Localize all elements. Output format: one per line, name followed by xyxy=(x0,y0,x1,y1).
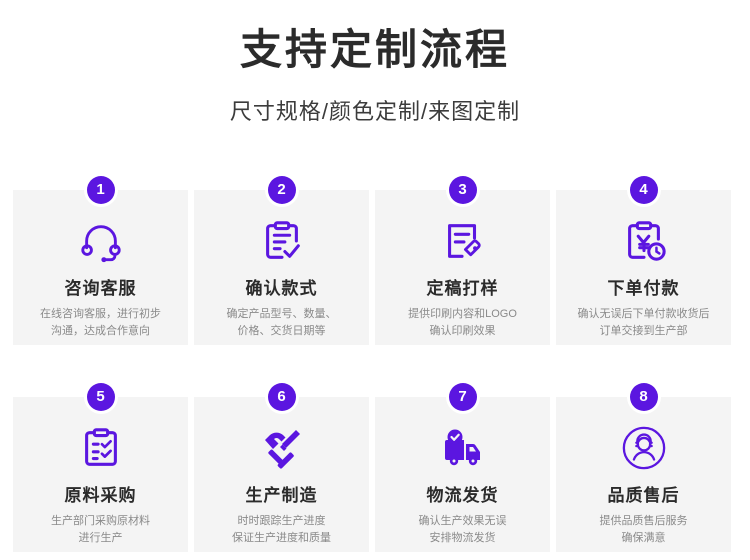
step-title-8: 品质售后 xyxy=(556,481,731,506)
step-desc-3: 提供印刷内容和LOGO 确认印刷效果 xyxy=(375,306,550,340)
step-desc-line-2: 确认印刷效果 xyxy=(385,323,540,340)
step-desc-line-1: 提供品质售后服务 xyxy=(566,513,721,530)
step-badge-3: 3 xyxy=(449,176,477,204)
step-desc-line-1: 确定产品型号、数量、 xyxy=(204,306,359,323)
step-card-7[interactable]: 7 物流发货 确认生产效果无误 安排物流发货 xyxy=(375,397,550,552)
step-card-3[interactable]: 3 定稿打样 提供印刷内容和LOGO 确认印刷效果 xyxy=(375,190,550,345)
step-badge-1: 1 xyxy=(87,176,115,204)
step-desc-line-1: 在线咨询客服，进行初步 xyxy=(23,306,178,323)
step-desc-2: 确定产品型号、数量、 价格、交货日期等 xyxy=(194,306,369,340)
document-tag-icon xyxy=(375,216,550,266)
step-desc-line-2: 安排物流发货 xyxy=(385,530,540,547)
step-title-7: 物流发货 xyxy=(375,481,550,506)
step-desc-line-1: 提供印刷内容和LOGO xyxy=(385,306,540,323)
delivery-truck-check-icon xyxy=(375,423,550,473)
step-desc-line-1: 确认无误后下单付款收货后 xyxy=(566,306,721,323)
step-card-5[interactable]: 5 原料采购 生产部门采购原材料 进行生产 xyxy=(13,397,188,552)
step-title-2: 确认款式 xyxy=(194,274,369,299)
step-desc-line-2: 进行生产 xyxy=(23,530,178,547)
step-desc-4: 确认无误后下单付款收货后 订单交接到生产部 xyxy=(556,306,731,340)
step-desc-5: 生产部门采购原材料 进行生产 xyxy=(13,513,188,547)
step-badge-4: 4 xyxy=(630,176,658,204)
clipboard-yuan-clock-icon xyxy=(556,216,731,266)
step-title-5: 原料采购 xyxy=(13,481,188,506)
page-subtitle: 尺寸规格/颜色定制/来图定制 xyxy=(0,94,750,126)
step-desc-line-2: 保证生产进度和质量 xyxy=(204,530,359,547)
step-desc-7: 确认生产效果无误 安排物流发货 xyxy=(375,513,550,547)
step-desc-line-2: 确保满意 xyxy=(566,530,721,547)
step-badge-2: 2 xyxy=(268,176,296,204)
clipboard-checklist-icon xyxy=(13,423,188,473)
page-title: 支持定制流程 xyxy=(0,26,750,74)
step-badge-5: 5 xyxy=(87,383,115,411)
custom-process-page: 支持定制流程 尺寸规格/颜色定制/来图定制 1 咨询客服 在线咨询客服，进行初步… xyxy=(0,0,750,560)
step-desc-line-1: 确认生产效果无误 xyxy=(385,513,540,530)
step-desc-line-2: 价格、交货日期等 xyxy=(204,323,359,340)
support-agent-circle-icon xyxy=(556,423,731,473)
step-card-1[interactable]: 1 咨询客服 在线咨询客服，进行初步 沟通，达成合作意向 xyxy=(13,190,188,345)
clipboard-check-icon xyxy=(194,216,369,266)
headset-icon xyxy=(13,216,188,266)
step-badge-7: 7 xyxy=(449,383,477,411)
step-title-1: 咨询客服 xyxy=(13,274,188,299)
step-desc-line-2: 订单交接到生产部 xyxy=(566,323,721,340)
step-card-4[interactable]: 4 下单付款 确认无误后下单付款收货后 订单交接到生产部 xyxy=(556,190,731,345)
step-card-6[interactable]: 6 生产制造 时时跟踪生产进度 保证生产进度和质量 xyxy=(194,397,369,552)
step-desc-line-2: 沟通，达成合作意向 xyxy=(23,323,178,340)
hammer-screwdriver-icon xyxy=(194,423,369,473)
step-card-2[interactable]: 2 确认款式 确定产品型号、数量、 价格、交货日期等 xyxy=(194,190,369,345)
step-card-8[interactable]: 8 品质售后 提供品质售后服务 确保满意 xyxy=(556,397,731,552)
process-steps-grid: 1 咨询客服 在线咨询客服，进行初步 沟通，达成合作意向 2 xyxy=(13,176,737,552)
step-desc-line-1: 生产部门采购原材料 xyxy=(23,513,178,530)
step-badge-6: 6 xyxy=(268,383,296,411)
step-title-6: 生产制造 xyxy=(194,481,369,506)
step-desc-6: 时时跟踪生产进度 保证生产进度和质量 xyxy=(194,513,369,547)
step-desc-8: 提供品质售后服务 确保满意 xyxy=(556,513,731,547)
step-desc-1: 在线咨询客服，进行初步 沟通，达成合作意向 xyxy=(13,306,188,340)
page-header: 支持定制流程 尺寸规格/颜色定制/来图定制 xyxy=(0,0,750,126)
step-title-4: 下单付款 xyxy=(556,274,731,299)
step-desc-line-1: 时时跟踪生产进度 xyxy=(204,513,359,530)
step-title-3: 定稿打样 xyxy=(375,274,550,299)
step-badge-8: 8 xyxy=(630,383,658,411)
